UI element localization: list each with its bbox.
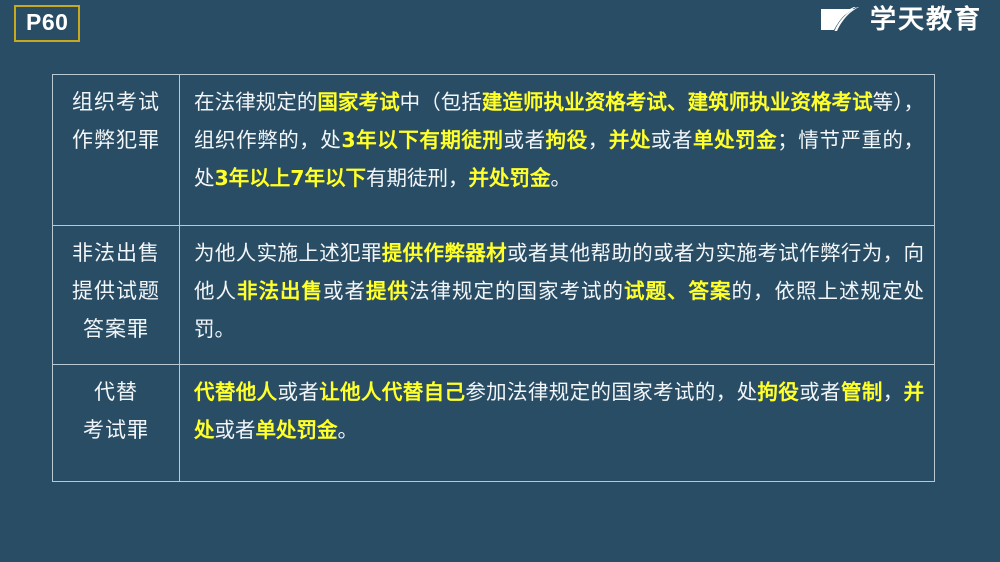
text-run: 为他人实施上述犯罪 [194,241,382,265]
text-run: ， [883,380,904,404]
page-number-badge: P60 [14,5,80,42]
highlight-run: 代替他人 [194,380,277,404]
highlight-run: 非法出售 [237,279,323,303]
slide-canvas: P60 学天教育 组织考试 作弊犯罪 [0,0,1000,562]
highlight-run: 提供 [366,279,409,303]
crime-name-0: 组织考试 作弊犯罪 [53,77,179,223]
crime-description-2: 代替他人或者让他人代替自己参加法律规定的国家考试的，处拘役或者管制，并处或者单处… [180,365,934,481]
crime-name-line: 组织考试 [55,83,177,121]
highlight-run: 拘役 [546,128,588,152]
text-run: 或者 [504,128,546,152]
crime-name-line: 答案罪 [55,310,177,348]
text-run: ， [588,128,609,152]
text-run: 法律规定的国家考试的 [409,279,624,303]
highlight-run: 国家考试 [317,90,399,114]
brand-logo: 学天教育 [818,6,982,33]
slide-header: P60 学天教育 [0,0,1000,52]
crime-description-1: 为他人实施上述犯罪提供作弊器材或者其他帮助的或者为实施考试作弊行为，向他人非法出… [180,226,934,364]
crime-definitions-table: 组织考试 作弊犯罪 在法律规定的国家考试中（包括建造师执业资格考试、建筑师执业资… [52,74,935,482]
text-run: 或者 [215,418,256,442]
table-row: 非法出售 提供试题 答案罪 为他人实施上述犯罪提供作弊器材或者其他帮助的或者为实… [53,226,935,365]
crime-description-0: 在法律规定的国家考试中（包括建造师执业资格考试、建筑师执业资格考试等），组织作弊… [180,75,934,225]
highlight-run: 单处罚金 [256,418,338,442]
crime-name-line: 提供试题 [55,272,177,310]
text-run: 。 [551,166,572,190]
crime-name-line: 考试罪 [55,411,177,449]
crime-name-2: 代替 考试罪 [53,367,179,479]
highlight-run: 拘役 [757,380,799,404]
road-swoosh-icon [818,6,862,33]
row-body-cell: 在法律规定的国家考试中（包括建造师执业资格考试、建筑师执业资格考试等），组织作弊… [180,75,935,226]
row-name-cell: 代替 考试罪 [53,365,180,482]
crime-name-line: 非法出售 [55,234,177,272]
text-run: 有期徒刑， [366,166,469,190]
table-body: 组织考试 作弊犯罪 在法律规定的国家考试中（包括建造师执业资格考试、建筑师执业资… [53,75,935,482]
row-body-cell: 代替他人或者让他人代替自己参加法律规定的国家考试的，处拘役或者管制，并处或者单处… [180,365,935,482]
highlight-run: 并处罚金 [469,166,551,190]
crime-name-line: 作弊犯罪 [55,121,177,159]
highlight-run: 试题、答案 [624,279,732,303]
text-run: 参加法律规定的国家考试的，处 [465,380,757,404]
text-run: 中（包括 [400,90,482,114]
text-run: 或者 [651,128,693,152]
highlight-run: 3年以下有期徒刑 [341,128,503,152]
crime-name-1: 非法出售 提供试题 答案罪 [53,228,179,362]
highlight-run: 并处 [609,128,651,152]
text-run: 或者 [277,380,319,404]
text-run: 在法律规定的 [194,90,317,114]
highlight-run: 3年以上7年以下 [215,166,367,190]
highlight-run: 建造师执业资格考试、建筑师执业资格考试 [482,90,873,114]
text-run: 或者 [323,279,366,303]
row-name-cell: 组织考试 作弊犯罪 [53,75,180,226]
highlight-run: 提供作弊器材 [382,241,507,265]
table-row: 代替 考试罪 代替他人或者让他人代替自己参加法律规定的国家考试的，处拘役或者管制… [53,365,935,482]
text-run: 或者 [799,380,841,404]
highlight-run: 让他人代替自己 [319,380,465,404]
table-row: 组织考试 作弊犯罪 在法律规定的国家考试中（包括建造师执业资格考试、建筑师执业资… [53,75,935,226]
brand-name-label: 学天教育 [870,7,982,33]
crime-name-line: 代替 [55,373,177,411]
text-run: 。 [338,418,359,442]
highlight-run: 管制 [841,380,883,404]
row-name-cell: 非法出售 提供试题 答案罪 [53,226,180,365]
row-body-cell: 为他人实施上述犯罪提供作弊器材或者其他帮助的或者为实施考试作弊行为，向他人非法出… [180,226,935,365]
highlight-run: 单处罚金 [693,128,777,152]
